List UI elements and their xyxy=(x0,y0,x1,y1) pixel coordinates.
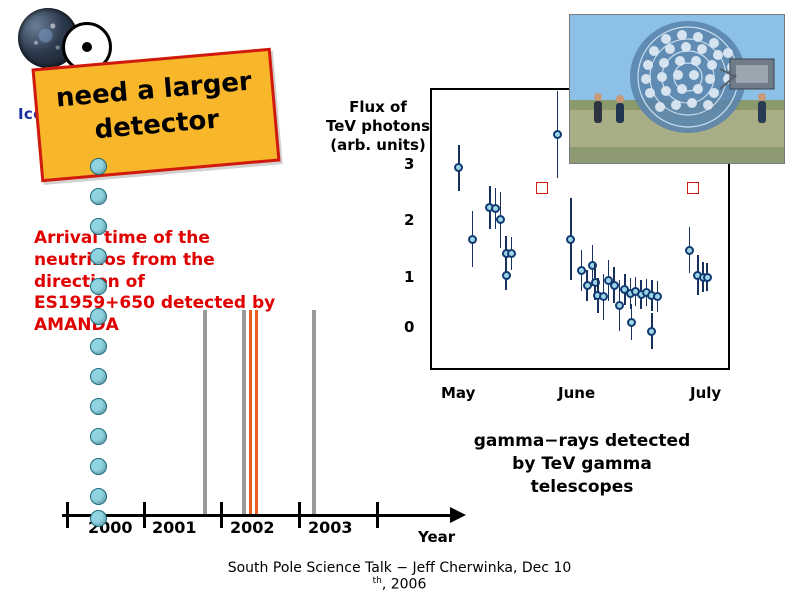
timeline-chart: 2000 2001 2002 2003 Year xyxy=(40,150,470,550)
annotation-square-marker xyxy=(687,182,699,194)
chart-caption: gamma−rays detected by TeV gamma telesco… xyxy=(432,430,732,499)
x-tick-label-july: July xyxy=(690,384,721,402)
timeline-bead xyxy=(90,338,107,355)
telescope-photo xyxy=(569,14,785,164)
y-tick-label-2: 2 xyxy=(404,211,414,229)
data-point xyxy=(703,273,712,282)
timeline-event-line xyxy=(312,310,316,514)
timeline-bead xyxy=(90,368,107,385)
data-point xyxy=(507,249,516,258)
chart-caption-line-2: by TeV gamma xyxy=(432,453,732,476)
timeline-tick xyxy=(298,502,301,528)
timeline-axis xyxy=(62,514,452,517)
timeline-bead xyxy=(90,428,107,445)
telescope-photo-graphic xyxy=(570,15,784,163)
chart-caption-line-1: gamma−rays detected xyxy=(432,430,732,453)
timeline-tick xyxy=(143,502,146,528)
timeline-tick-label: 2003 xyxy=(308,518,353,537)
data-point xyxy=(647,327,656,336)
timeline-arrow-icon xyxy=(450,507,466,523)
data-point xyxy=(454,163,463,172)
data-point xyxy=(653,292,662,301)
y-tick-label-3: 3 xyxy=(404,155,414,173)
timeline-bead xyxy=(90,458,107,475)
icecube-logo xyxy=(18,8,106,68)
footer-year: , 2006 xyxy=(382,577,427,593)
timeline-bead xyxy=(90,188,107,205)
timeline-bead xyxy=(90,308,107,325)
chart-caption-line-3: telescopes xyxy=(432,476,732,499)
timeline-tick xyxy=(66,502,69,528)
data-point xyxy=(577,266,586,275)
timeline-tick-label: 2001 xyxy=(152,518,197,537)
data-point xyxy=(553,130,562,139)
data-point xyxy=(566,235,575,244)
y-tick-label-0: 0 xyxy=(404,318,414,336)
timeline-tick-label: 2002 xyxy=(230,518,275,537)
x-tick-label-june: June xyxy=(558,384,595,402)
annotation-square-marker xyxy=(536,182,548,194)
data-point xyxy=(615,301,624,310)
chart-title: Flux of TeV photons (arb. units) xyxy=(318,98,438,154)
timeline-event-line xyxy=(203,310,207,514)
timeline-event-line xyxy=(255,310,258,514)
footer: South Pole Science Talk − Jeff Cherwinka… xyxy=(0,560,799,593)
chart-title-line-1: Flux of xyxy=(318,98,438,117)
callout-text: need a larger detector xyxy=(36,63,275,153)
timeline-bead-column xyxy=(88,158,108,518)
timeline-event-line xyxy=(249,310,252,514)
footer-text: South Pole Science Talk − Jeff Cherwinka… xyxy=(228,560,572,576)
y-tick-label-1: 1 xyxy=(404,268,414,286)
timeline-bead xyxy=(90,158,107,175)
timeline-bead xyxy=(90,278,107,295)
data-point xyxy=(468,235,477,244)
data-point xyxy=(599,292,608,301)
timeline-tick xyxy=(376,502,379,528)
timeline-bead xyxy=(90,398,107,415)
chart-title-line-3: (arb. units) xyxy=(318,136,438,155)
timeline-axis-label: Year xyxy=(418,528,455,546)
data-point xyxy=(610,281,619,290)
data-point xyxy=(496,215,505,224)
timeline-tick xyxy=(220,502,223,528)
data-point xyxy=(627,318,636,327)
footer-sup: th xyxy=(373,576,382,586)
data-point xyxy=(502,271,511,280)
timeline-bead xyxy=(90,510,107,527)
data-point xyxy=(491,204,500,213)
timeline-bead xyxy=(90,218,107,235)
data-point xyxy=(685,246,694,255)
chart-title-line-2: TeV photons xyxy=(318,117,438,136)
timeline-bead xyxy=(90,248,107,265)
timeline-bead xyxy=(90,488,107,505)
timeline-event-line xyxy=(242,310,246,514)
x-tick-label-may: May xyxy=(441,384,475,402)
